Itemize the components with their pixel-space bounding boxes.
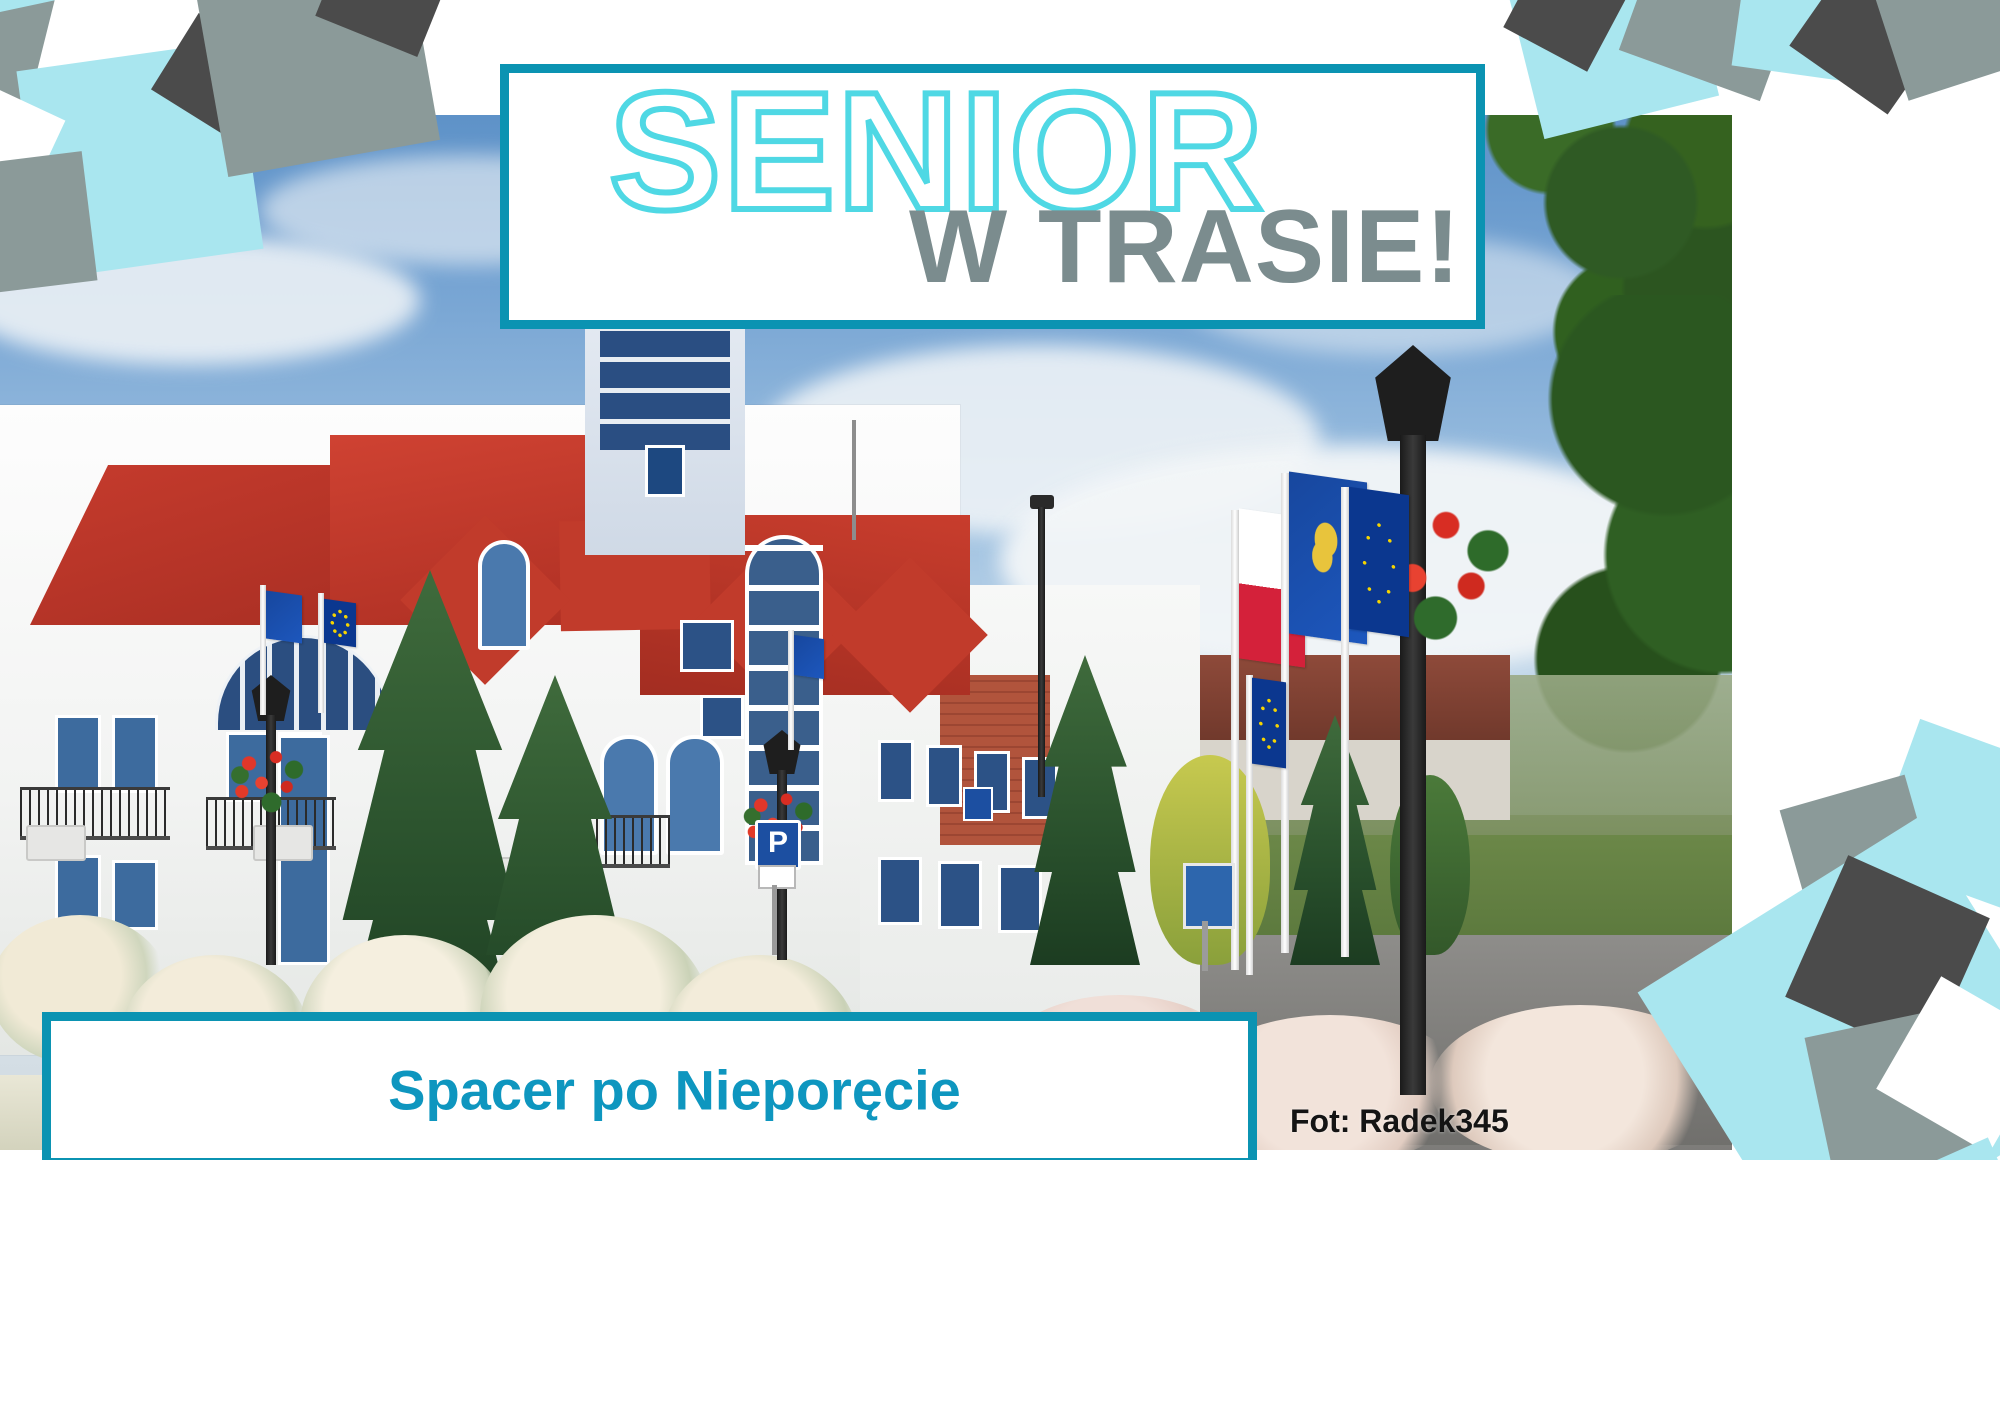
flower-basket [222,740,312,818]
window [878,857,922,925]
photo-credit: Fot: Radek345 [1290,1103,1509,1140]
arched-window [478,540,530,650]
footer-bar: Stowarzyszenie Dobra Fala Projekt dofina… [0,1160,2000,1414]
air-conditioner [26,825,86,861]
poster-canvas: P SENIOR W TRASIE! Fot: Radek345 Spacer [0,0,2000,1414]
caption-card: Spacer po Nieporęcie [42,1012,1257,1167]
window [938,861,982,929]
sign-plate [758,865,796,889]
title-w-trasie: W TRASIE! [909,195,1461,299]
parking-sign-icon: P [755,820,801,870]
arched-window [666,735,724,855]
air-conditioner [253,825,313,861]
antenna [852,420,856,540]
window [55,715,101,793]
flag-pole [1341,487,1349,957]
information-sign-icon [963,787,993,821]
notice-board [1183,863,1235,929]
decor-square [0,151,97,295]
window [680,620,734,672]
flag-eu [1349,487,1409,637]
window [926,745,962,807]
flag-eu [1252,678,1286,769]
flag-eu [324,599,356,647]
caption-title: Spacer po Nieporęcie [51,1057,1248,1122]
tower-emblem [645,445,685,497]
window [700,695,744,739]
street-lamp-pole [1038,507,1045,797]
flag-municipal [266,590,302,643]
sign-post [772,885,777,955]
window [112,860,158,930]
title-card: SENIOR W TRASIE! [500,64,1485,329]
window [878,740,914,802]
window [112,715,158,793]
sign-post [1202,921,1208,971]
window [998,865,1042,933]
flag-municipal [794,635,824,679]
